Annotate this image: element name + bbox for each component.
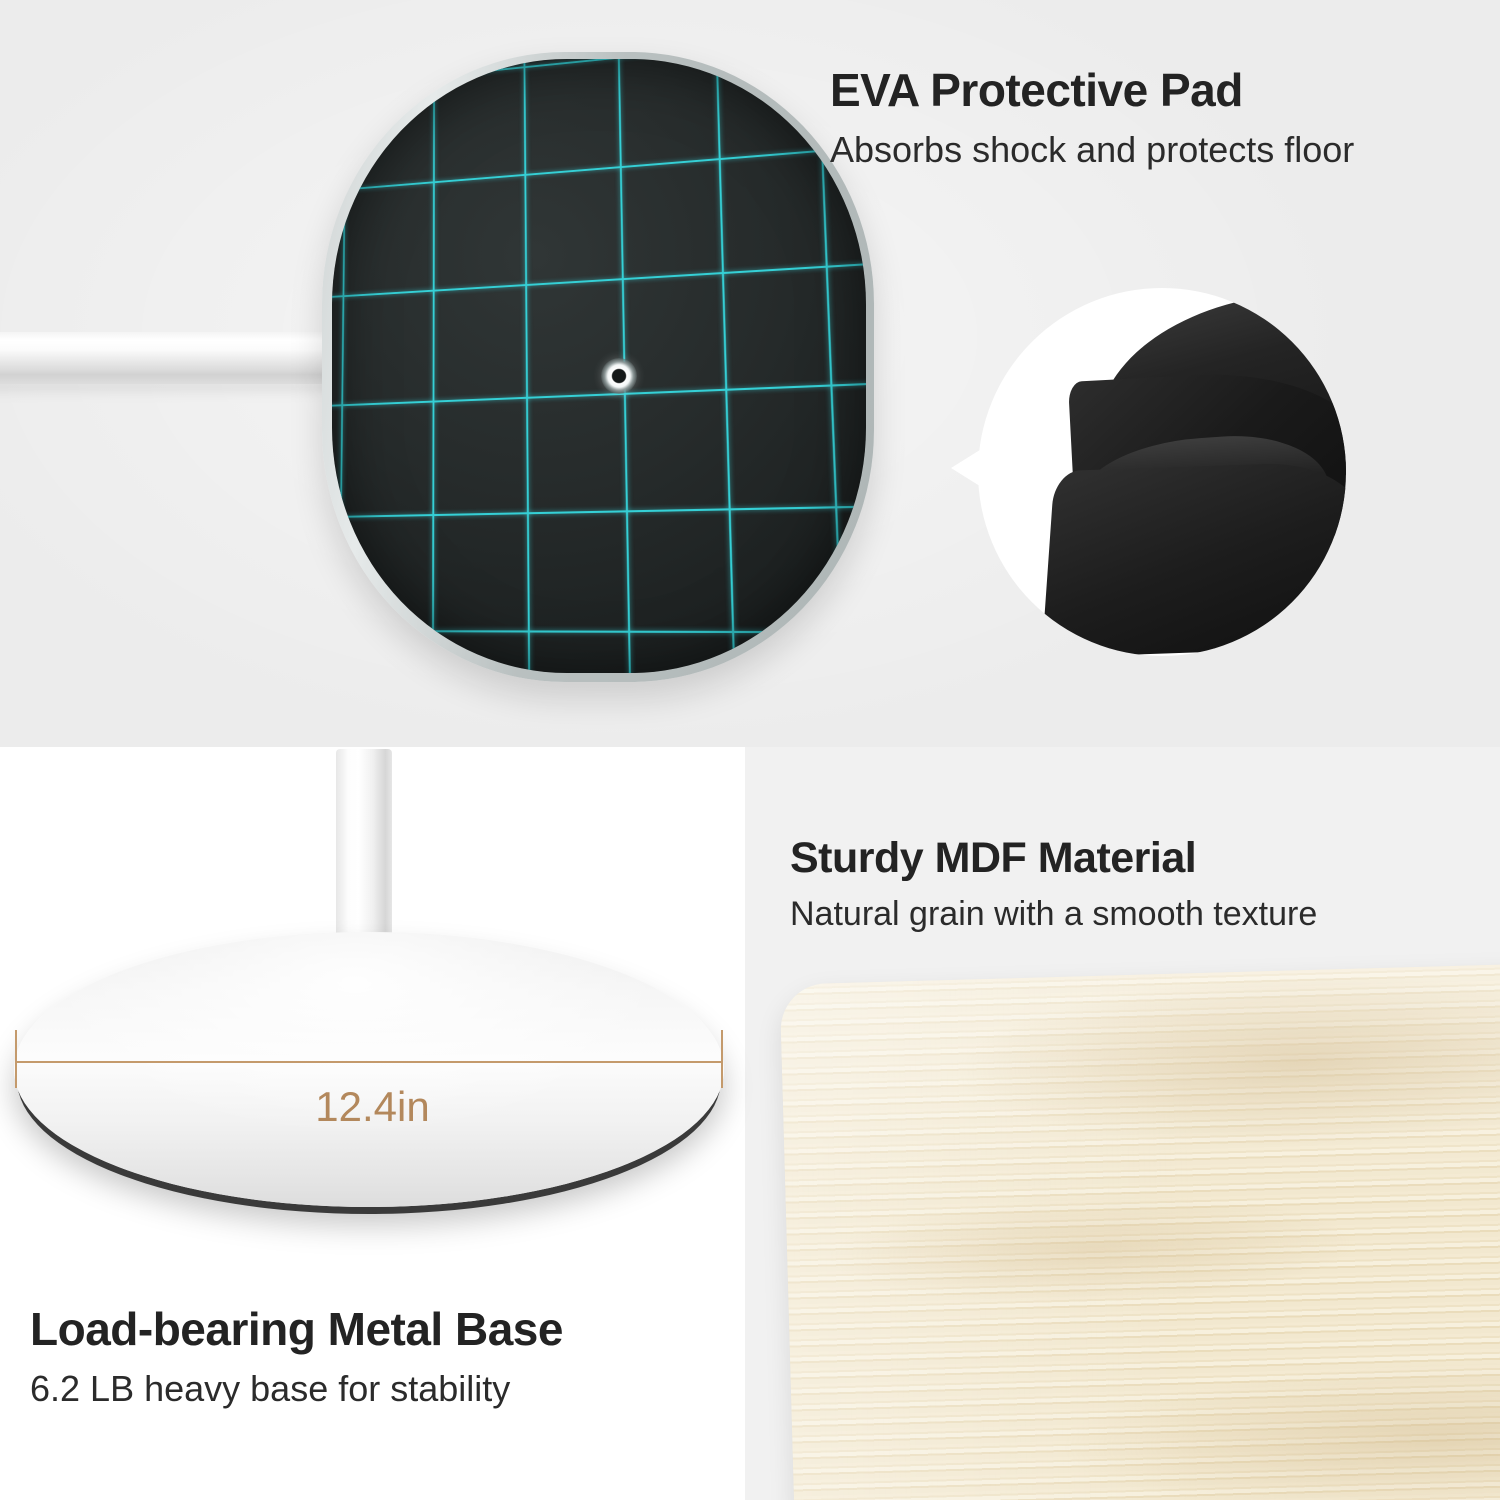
- eva-title: EVA Protective Pad: [830, 66, 1354, 114]
- eva-pad-surface: [332, 59, 866, 673]
- lamp-pole-horizontal: [0, 332, 370, 384]
- base-subtitle: 6.2 LB heavy base for stability: [30, 1367, 563, 1410]
- mdf-feature-heading: Sturdy MDF Material Natural grain with a…: [790, 836, 1317, 935]
- dimension-label: 12.4in: [0, 1083, 745, 1131]
- base-feature-heading: Load-bearing Metal Base 6.2 LB heavy bas…: [30, 1305, 563, 1410]
- base-title: Load-bearing Metal Base: [30, 1305, 563, 1353]
- mdf-wood-grain: [780, 960, 1500, 1500]
- eva-foam-callout-bubble: [978, 288, 1346, 656]
- dimension-tick-left: [15, 1030, 17, 1088]
- dimension-line: [15, 1061, 723, 1063]
- infographic-canvas: EVA Protective Pad Absorbs shock and pro…: [0, 0, 1500, 1500]
- eva-feature-heading: EVA Protective Pad Absorbs shock and pro…: [830, 66, 1354, 171]
- eva-protective-pad-image: [322, 52, 874, 682]
- mdf-title: Sturdy MDF Material: [790, 836, 1317, 881]
- mdf-tabletop-board: [780, 960, 1500, 1500]
- eva-subtitle: Absorbs shock and protects floor: [830, 128, 1354, 171]
- metal-base-highlight: [14, 932, 724, 1207]
- foam-sheet-closeup: [978, 288, 1346, 656]
- dimension-tick-right: [721, 1030, 723, 1088]
- foam-layer-bottom: [1042, 460, 1346, 656]
- eva-pad-grid-overlay: [332, 59, 866, 673]
- metal-base-plate: [14, 932, 724, 1207]
- mdf-subtitle: Natural grain with a smooth texture: [790, 894, 1317, 935]
- eva-pad-center-screw-icon: [601, 358, 637, 394]
